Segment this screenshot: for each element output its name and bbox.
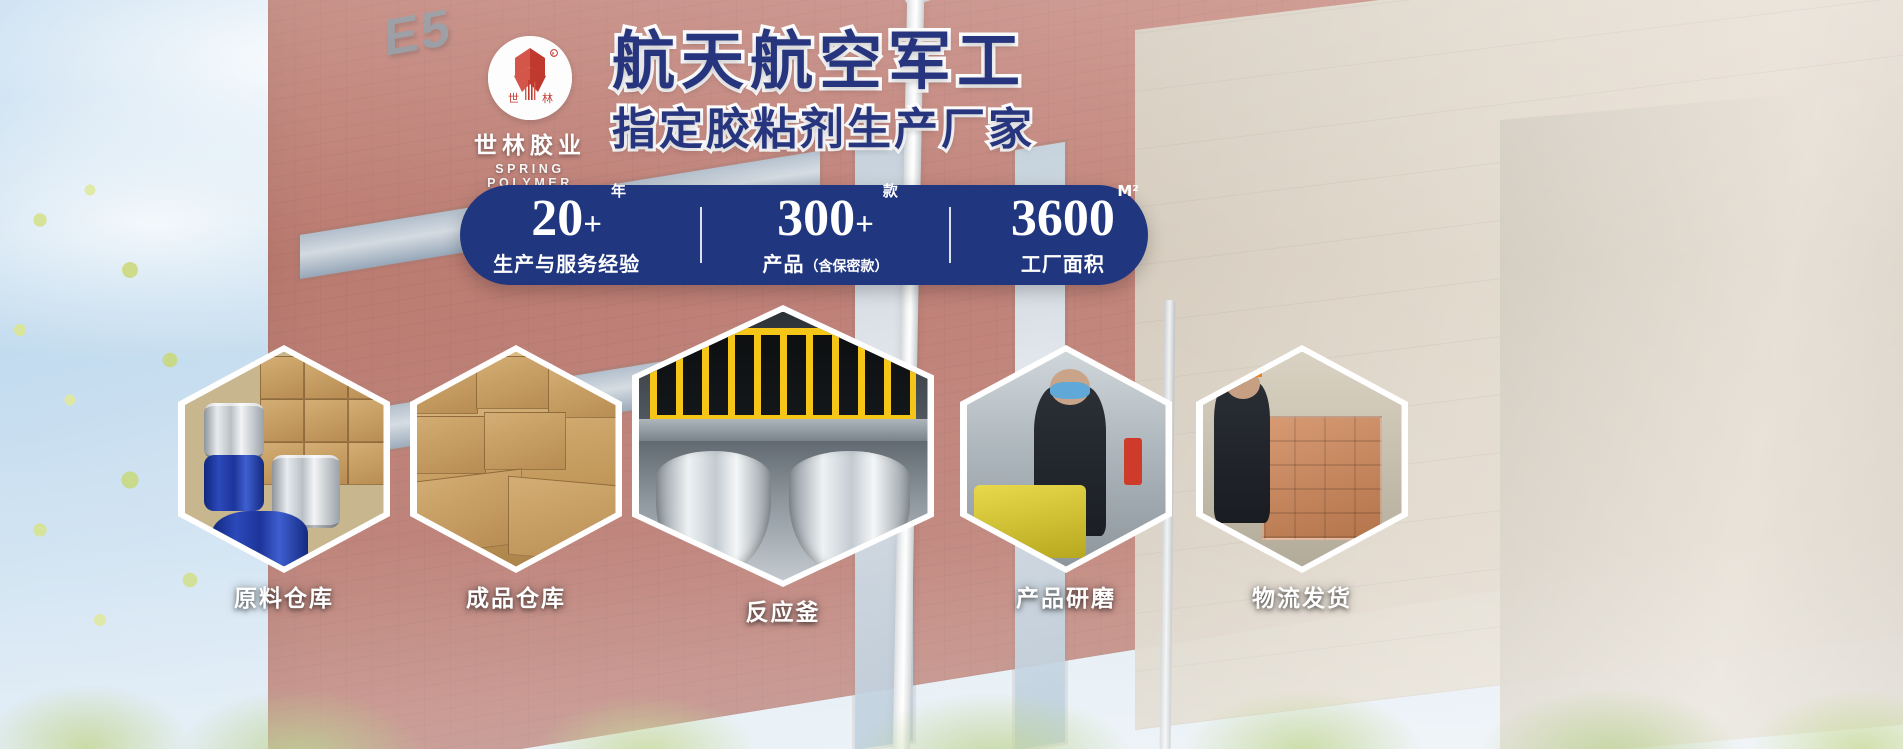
worker-figure <box>1214 382 1270 524</box>
photo-logistics-shipping <box>1203 352 1402 567</box>
facility-caption: 反应釜 <box>632 593 934 627</box>
grinding-machine <box>974 485 1085 558</box>
reactor-tank <box>656 451 772 575</box>
wrapped-pallet <box>1262 416 1381 540</box>
hexagon-photo <box>185 352 384 567</box>
red-container <box>1124 438 1142 485</box>
facility-caption: 成品仓库 <box>410 579 622 613</box>
facility-tile-finished-goods-warehouse[interactable]: 成品仓库 <box>410 345 622 613</box>
facility-caption: 产品研磨 <box>960 579 1172 613</box>
hexagon-photo <box>967 352 1166 567</box>
facility-tile-product-grinding[interactable]: 产品研磨 <box>960 345 1172 613</box>
hexagon-photo <box>639 312 928 581</box>
facility-tile-logistics-shipping[interactable]: 物流发货 <box>1196 345 1408 613</box>
hexagon-frame <box>1196 345 1408 573</box>
reactor-tank <box>789 451 910 575</box>
orange-cap <box>1224 364 1262 377</box>
facility-hexagon-row: 原料仓库 成品仓库 <box>0 0 1903 749</box>
face-mask <box>1050 382 1090 399</box>
photo-product-grinding <box>967 352 1166 567</box>
hexagon-frame <box>632 305 934 587</box>
hexagon-photo <box>417 352 616 567</box>
photo-reaction-kettle <box>639 312 928 581</box>
promo-banner: E5 世 林 R 世林胶业 SPRING POLYMER <box>0 0 1903 749</box>
photo-raw-material-warehouse <box>185 352 384 567</box>
hexagon-frame <box>410 345 622 573</box>
yellow-safety-railing <box>650 328 916 423</box>
facility-tile-reaction-kettle[interactable]: 反应釜 <box>632 305 934 627</box>
hexagon-frame <box>960 345 1172 573</box>
hexagon-photo <box>1203 352 1402 567</box>
facility-caption: 物流发货 <box>1196 579 1408 613</box>
facility-caption: 原料仓库 <box>178 579 390 613</box>
facility-tile-raw-material-warehouse[interactable]: 原料仓库 <box>178 345 390 613</box>
hexagon-frame <box>178 345 390 573</box>
platform-deck <box>639 419 928 441</box>
photo-finished-goods-warehouse <box>417 352 616 567</box>
worker-head <box>1226 369 1260 399</box>
